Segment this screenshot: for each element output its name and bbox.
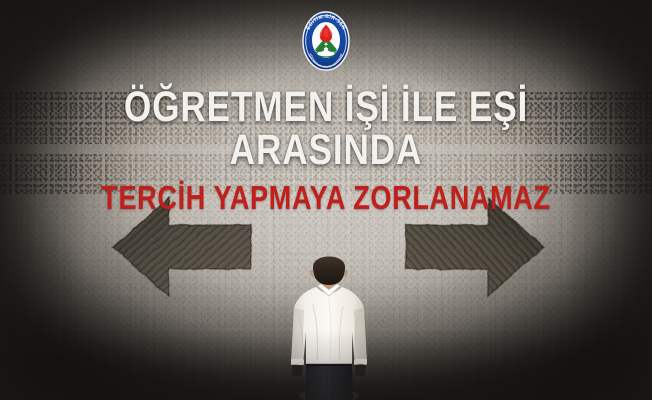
egitim-bir-sen-logo-icon: EĞİTİM-BİR-SEN EĞİTİMCİLER BİRLİĞİ SENDİ…	[298, 9, 354, 73]
headline-block: ÖĞRETMEN İŞİ İLE EŞİ ARASINDA TERCİH YAP…	[0, 86, 652, 214]
headline-line-2: TERCİH YAPMAYA ZORLANAMAZ	[59, 181, 594, 214]
poster-image: EĞİTİM-BİR-SEN EĞİTİMCİLER BİRLİĞİ SENDİ…	[0, 0, 652, 400]
man-from-behind-figure	[285, 246, 373, 400]
headline-line-1: ÖĞRETMEN İŞİ İLE EŞİ ARASINDA	[59, 86, 594, 172]
